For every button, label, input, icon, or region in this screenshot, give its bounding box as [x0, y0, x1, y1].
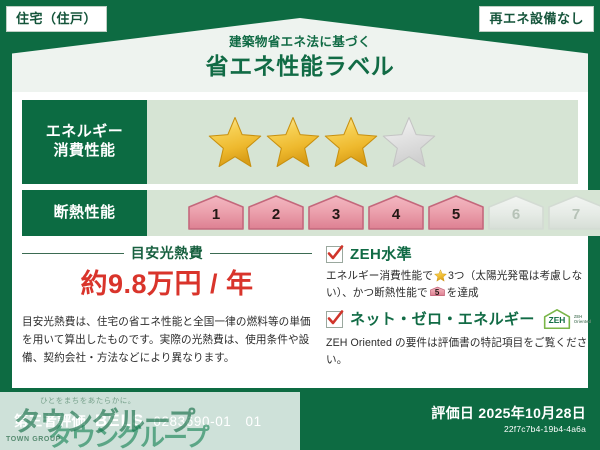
insulation-chip-value: 5	[430, 289, 445, 297]
insulation-level-5: 5	[427, 194, 485, 232]
house-icon-7	[547, 194, 600, 232]
heading-rule-right	[210, 253, 312, 254]
label-footer: 第三者評価 BELS 0283690-01 01 評価日 2025年10月28日…	[0, 396, 600, 450]
third-party-evaluation-label: 第三者評価	[14, 411, 86, 431]
standard-zeh-level-description: エネルギー消費性能で3つ（太陽光発電は考慮しない）、かつ断熱性能で5を達成	[326, 268, 591, 302]
evaluation-date-line: 評価日 2025年10月28日	[431, 406, 586, 421]
house-icon-1	[187, 194, 245, 232]
footer-certification: 第三者評価 BELS 0283690-01 01	[14, 410, 262, 431]
standard-net-zero-energy-header: ネット・ゼロ・エネルギー ZEH ZEH Oriented	[326, 308, 591, 330]
zeh-logo-caption-line2: Oriented	[574, 319, 591, 324]
lower-section: 目安光熱費 約9.8万円 / 年 目安光熱費は、住宅の省エネ性能と全国一律の燃料…	[22, 244, 578, 380]
evaluation-date-label: 評価日	[431, 405, 474, 421]
zeh-desc-part3: を達成	[447, 287, 479, 299]
insulation-scale: 1 2 3	[187, 194, 600, 232]
insulation-level-3: 3	[307, 194, 365, 232]
house-icon-2	[247, 194, 305, 232]
utility-cost-heading-text: 目安光熱費	[131, 246, 204, 260]
zeh-desc-part1: エネルギー消費性能で	[326, 270, 433, 282]
standard-net-zero-energy: ネット・ゼロ・エネルギー ZEH ZEH Oriented	[326, 308, 591, 369]
house-icon-6	[487, 194, 545, 232]
house-icon-4	[367, 194, 425, 232]
badge-building-type: 住宅（住戸）	[6, 6, 107, 32]
standard-zeh-level-title: ZEH水準	[350, 247, 412, 262]
house-icon-5	[427, 194, 485, 232]
zeh-logo-caption-line1: ZEH	[574, 314, 582, 319]
checkbox-checked-icon	[326, 246, 343, 263]
label-body: エネルギー 消費性能	[12, 92, 588, 388]
insulation-performance-label-box: 断熱性能	[22, 190, 147, 236]
certification-number: 0283690-01 01	[153, 410, 261, 430]
standard-net-zero-energy-title: ネット・ゼロ・エネルギー	[350, 312, 535, 327]
standards-column: ZEH水準 エネルギー消費性能で3つ（太陽光発電は考慮しない）、かつ断熱性能で5…	[326, 244, 591, 380]
insulation-performance-row: 断熱性能	[22, 190, 578, 236]
insulation-chip-inline: 5	[430, 285, 445, 298]
heading-rule-left	[22, 253, 124, 254]
star-icon-filled-1	[207, 114, 263, 170]
utility-cost-heading: 目安光熱費	[22, 246, 312, 260]
footer-evaluation-date: 評価日 2025年10月28日 22f7c7b4-19b4-4a6a	[431, 406, 586, 434]
utility-cost-column: 目安光熱費 約9.8万円 / 年 目安光熱費は、住宅の省エネ性能と全国一律の燃料…	[22, 244, 312, 380]
star-icon-filled-3	[323, 114, 379, 170]
insulation-level-1: 1	[187, 194, 245, 232]
title-subtitle: 建築物省エネ法に基づく	[0, 36, 600, 49]
insulation-label: 断熱性能	[53, 204, 115, 223]
insulation-level-7: 7	[547, 194, 600, 232]
star-icon-empty-4	[381, 114, 437, 170]
zeh-desc-stars: 3つ（太陽光発電	[448, 270, 529, 282]
energy-label-line1: エネルギー	[46, 123, 124, 142]
svg-text:ZEH: ZEH	[548, 315, 565, 325]
standard-net-zero-energy-description: ZEH Oriented の要件は評価書の特記項目をご覧ください。	[326, 335, 591, 369]
evaluation-date-value: 2025年10月28日	[478, 405, 586, 421]
house-icon-3	[307, 194, 365, 232]
utility-cost-amount: 約9.8万円 / 年	[22, 271, 312, 298]
title-block: 建築物省エネ法に基づく 省エネ性能ラベル	[0, 36, 600, 78]
star-icon-inline	[434, 269, 447, 282]
evaluation-hash: 22f7c7b4-19b4-4a6a	[431, 424, 586, 434]
star-icon-filled-2	[265, 114, 321, 170]
standard-zeh-level: ZEH水準 エネルギー消費性能で3つ（太陽光発電は考慮しない）、かつ断熱性能で5…	[326, 246, 591, 302]
energy-performance-label: 住宅（住戸） 再エネ設備なし 建築物省エネ法に基づく 省エネ性能ラベル エネルギ…	[0, 0, 600, 450]
energy-performance-row: エネルギー 消費性能	[22, 100, 578, 184]
utility-cost-note: 目安光熱費は、住宅の省エネ性能と全国一律の燃料等の単価を用いて算出したものです。…	[22, 313, 312, 368]
zeh-house-logo-icon: ZEH	[542, 308, 572, 330]
label-header: 住宅（住戸） 再エネ設備なし 建築物省エネ法に基づく 省エネ性能ラベル	[0, 0, 600, 92]
insulation-level-2: 2	[247, 194, 305, 232]
energy-performance-label-box: エネルギー 消費性能	[22, 100, 147, 184]
title-main: 省エネ性能ラベル	[0, 55, 600, 78]
insulation-performance-value: 1 2 3	[147, 190, 600, 236]
insulation-level-6: 6	[487, 194, 545, 232]
checkbox-checked-icon-2	[326, 311, 343, 328]
badge-renewable-energy: 再エネ設備なし	[479, 6, 594, 32]
standard-zeh-level-header: ZEH水準	[326, 246, 591, 263]
zeh-logo-caption: ZEH Oriented	[574, 314, 591, 325]
bels-logo: BELS	[95, 411, 144, 431]
zeh-logo: ZEH ZEH Oriented	[542, 308, 591, 330]
energy-label-line2: 消費性能	[53, 142, 115, 161]
energy-performance-value	[147, 100, 578, 184]
star-rating	[207, 114, 437, 170]
insulation-level-4: 4	[367, 194, 425, 232]
